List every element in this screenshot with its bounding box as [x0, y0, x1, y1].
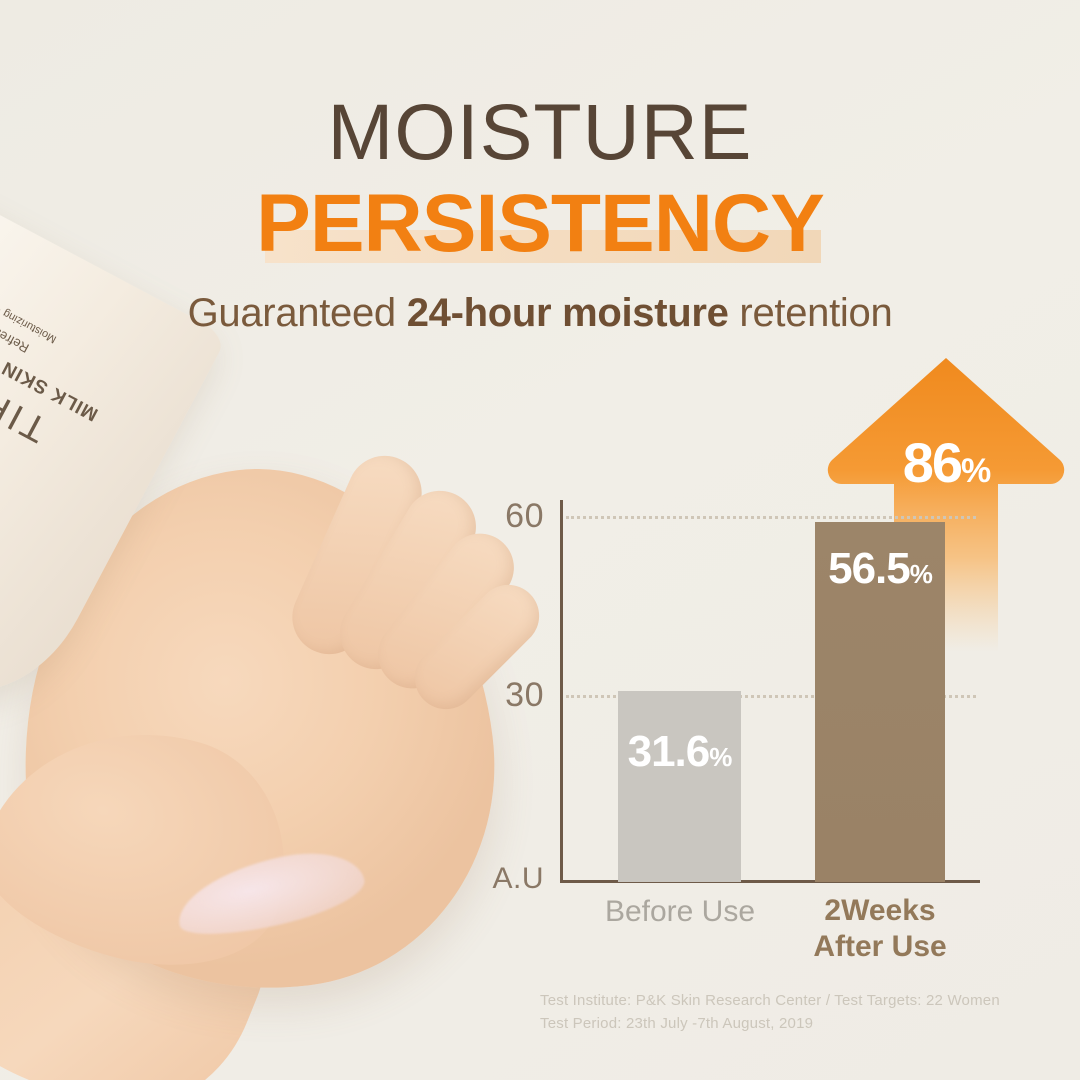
y-tick-30: 30 — [500, 676, 544, 715]
y-tick-60: 60 — [500, 497, 544, 536]
bar-value-unit: % — [910, 559, 932, 589]
x-label-after-line2: After Use — [800, 929, 960, 965]
gridline-60 — [566, 516, 976, 519]
bar-value-before: 31.6% — [618, 727, 741, 777]
bar-value-unit: % — [709, 742, 731, 772]
x-label-after-line1: 2Weeks — [800, 893, 960, 929]
footnote-line-2: Test Period: 23th July -7th August, 2019 — [540, 1013, 1060, 1036]
y-axis — [560, 500, 563, 882]
footnote-line-1: Test Institute: P&K Skin Research Center… — [540, 990, 1060, 1013]
increase-value: 86% — [826, 430, 1066, 495]
x-label-after-use: 2Weeks After Use — [800, 893, 960, 965]
increase-unit: % — [961, 452, 989, 490]
bar-before-use: 31.6% — [618, 691, 741, 882]
bar-chart: 86% 60 30 A.U 31.6% 56.5% Before Use 2We… — [0, 0, 1080, 1080]
infographic-canvas: TIRTIR MILK SKIN TONER Refreshing Skin M… — [0, 0, 1080, 1080]
footnote: Test Institute: P&K Skin Research Center… — [540, 990, 1060, 1035]
x-label-before-use: Before Use — [592, 895, 768, 929]
bar-value-after: 56.5% — [815, 544, 945, 594]
y-axis-unit-label: A.U — [488, 862, 544, 896]
bar-after-use: 56.5% — [815, 522, 945, 882]
